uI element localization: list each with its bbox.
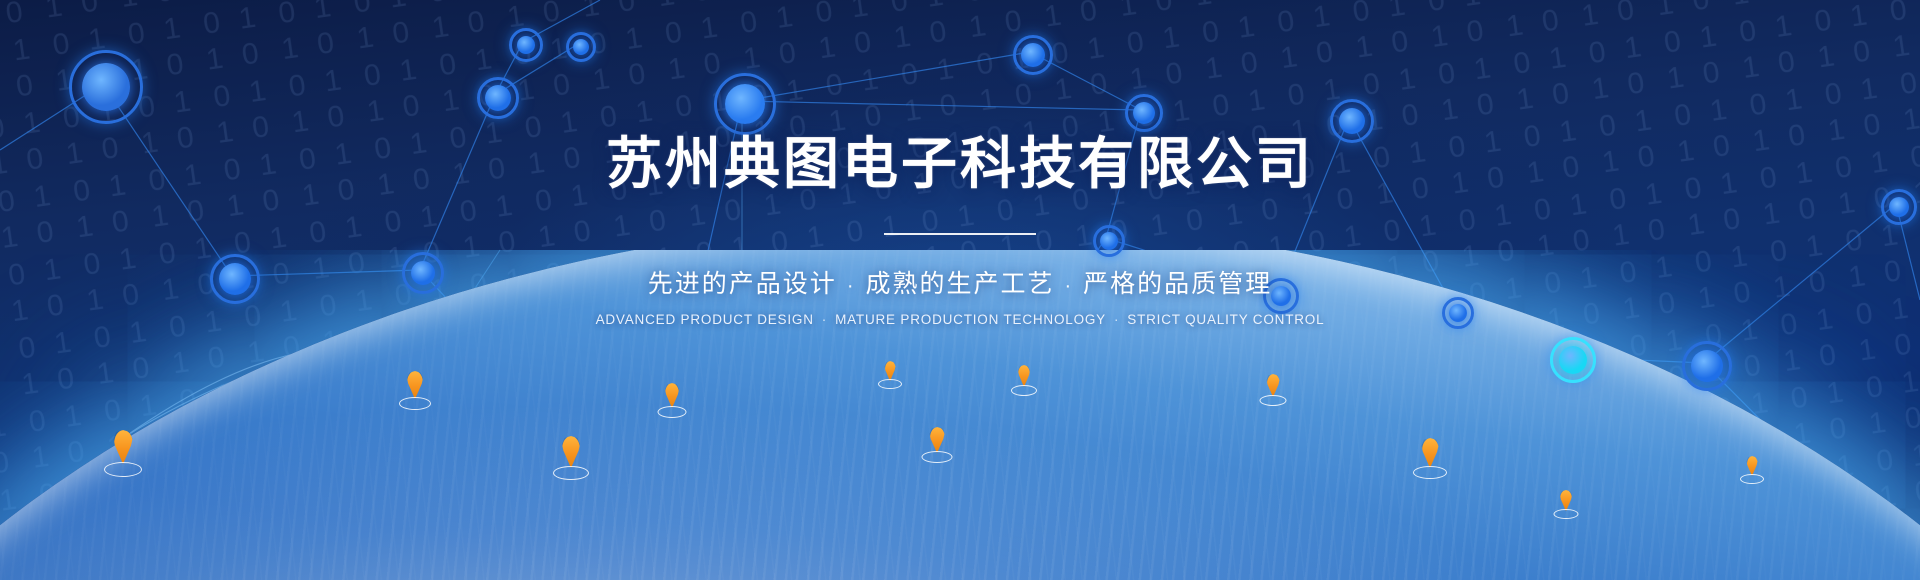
map-pin-ring [922,451,953,463]
map-pin-icon [1747,456,1758,484]
map-pin-body [1560,490,1572,511]
map-pin-body [114,430,133,464]
subtitle-chinese: 先进的产品设计·成熟的生产工艺·严格的品质管理 [0,238,1920,300]
map-pin-body [1267,374,1280,397]
subtitle-english-part: ADVANCED PRODUCT DESIGN [596,312,814,327]
map-pin-icon [1018,365,1030,396]
hero-content: 苏州典图电子科技有限公司 先进的产品设计·成熟的生产工艺·严格的品质管理 ADV… [0,0,1920,327]
map-pin-ring [399,397,431,410]
hero-banner: 0 1 1 0 [0,0,1920,580]
map-pin-body [1422,438,1439,468]
divider-line [884,233,1036,235]
map-pin-icon [885,361,896,389]
subtitle-chinese-part: 先进的产品设计 [648,270,837,298]
network-node-core [1559,346,1587,374]
map-pin-icon [407,371,423,410]
title-divider [0,222,1920,238]
map-pin-ring [658,406,687,418]
subtitle-english-part: STRICT QUALITY CONTROL [1127,312,1324,327]
map-pin-icon [930,427,945,463]
map-pin-body [665,383,679,408]
map-pin-body [1747,456,1758,476]
map-pin-ring [1740,474,1764,484]
subtitle-separator: · [1055,275,1084,297]
map-pin-ring [553,466,589,480]
network-node-core [1691,350,1723,382]
subtitle-english-part: MATURE PRODUCTION TECHNOLOGY [835,312,1106,327]
map-pin-ring [1554,509,1579,519]
subtitle-english: ADVANCED PRODUCT DESIGN·MATURE PRODUCTIO… [0,300,1920,327]
map-pin-body [1018,365,1030,387]
subtitle-separator: · [837,275,866,297]
map-pin-body [407,371,423,399]
network-node-icon [1682,341,1732,391]
page-title: 苏州典图电子科技有限公司 [0,0,1920,196]
subtitle-separator: · [814,312,835,327]
map-pin-icon [665,383,679,418]
map-pin-ring [1260,395,1287,406]
network-node-icon [1550,337,1596,383]
map-pin-icon [114,430,133,477]
map-pin-icon [1560,490,1572,519]
map-pin-icon [562,436,580,480]
map-pin-ring [1413,466,1447,479]
map-pin-body [885,361,896,381]
subtitle-separator: · [1106,312,1127,327]
subtitle-chinese-part: 严格的品质管理 [1083,270,1272,298]
map-pin-icon [1422,438,1439,479]
subtitle-chinese-part: 成熟的生产工艺 [865,270,1054,298]
map-pin-icon [1267,374,1280,406]
map-pin-body [930,427,945,453]
map-pin-body [562,436,580,468]
map-pin-ring [1011,385,1037,396]
map-pin-ring [104,462,142,477]
map-pin-ring [878,379,902,389]
